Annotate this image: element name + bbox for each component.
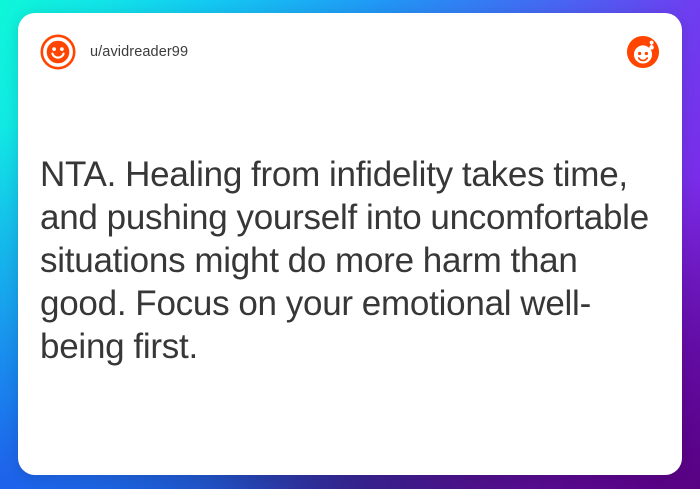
reddit-snoo-icon xyxy=(626,35,660,69)
brand-logo xyxy=(626,35,660,69)
smiley-face-icon xyxy=(40,34,76,70)
card-header: u/avidreader99 xyxy=(18,13,682,91)
avatar xyxy=(40,34,76,70)
comment-card: u/avidreader99 NTA. Healing from infidel… xyxy=(18,13,682,475)
comment-text: NTA. Healing from infidelity takes time,… xyxy=(40,153,654,368)
username-label: u/avidreader99 xyxy=(90,44,188,60)
